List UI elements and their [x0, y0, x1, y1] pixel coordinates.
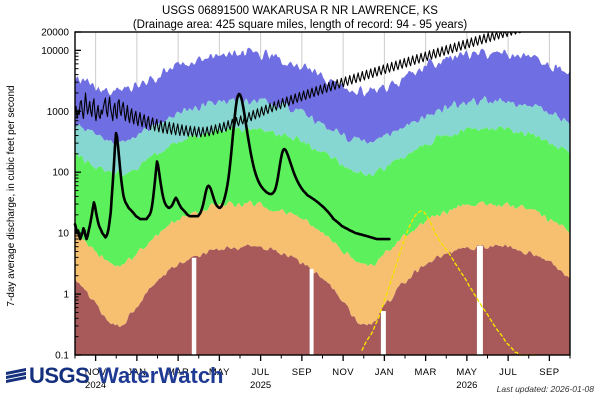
- y-axis-title: 7-day average discharge, in cubic feet p…: [6, 85, 17, 306]
- x-year-label: 2025: [250, 380, 271, 391]
- x-month-label: MAY: [456, 367, 477, 378]
- x-month-label: MAR: [414, 367, 436, 378]
- x-month-label: NOV: [332, 367, 354, 378]
- x-month-label: SEP: [292, 367, 312, 378]
- y-tick-label: 1000: [47, 107, 70, 118]
- page-title: USGS 06891500 WAKARUSA R NR LAWRENCE, KS: [162, 5, 438, 17]
- x-month-label: JAN: [375, 367, 394, 378]
- y-tick-label: 0.1: [55, 351, 69, 362]
- x-month-label: JUL: [499, 367, 517, 378]
- waterwatch-chart-page: USGS 06891500 WAKARUSA R NR LAWRENCE, KS…: [0, 0, 600, 400]
- y-tick-label: 1: [63, 290, 69, 301]
- y-tick-label: 10000: [41, 46, 69, 57]
- chart-figure: USGS 06891500 WAKARUSA R NR LAWRENCE, KS…: [0, 0, 600, 400]
- page-subtitle: (Drainage area: 425 square miles, length…: [133, 19, 467, 31]
- band-data-gap-1: [310, 269, 314, 355]
- usgs-waterwatch-logo[interactable]: USGS WaterWatch: [6, 363, 224, 388]
- y-tick-label: 10: [58, 229, 70, 240]
- x-month-label: SEP: [539, 367, 559, 378]
- x-year-label: 2026: [456, 380, 477, 391]
- y-tick-label: 20000: [41, 28, 69, 39]
- usgs-wordmark: USGS: [29, 363, 89, 388]
- x-month-label: JUL: [252, 367, 270, 378]
- band-data-gap-2: [381, 311, 386, 355]
- y-tick-label: 100: [52, 168, 69, 179]
- band-data-gap-0: [192, 258, 196, 355]
- last-updated-label: Last updated: 2026-01-08: [497, 384, 595, 394]
- waterwatch-wordmark: WaterWatch: [98, 363, 224, 388]
